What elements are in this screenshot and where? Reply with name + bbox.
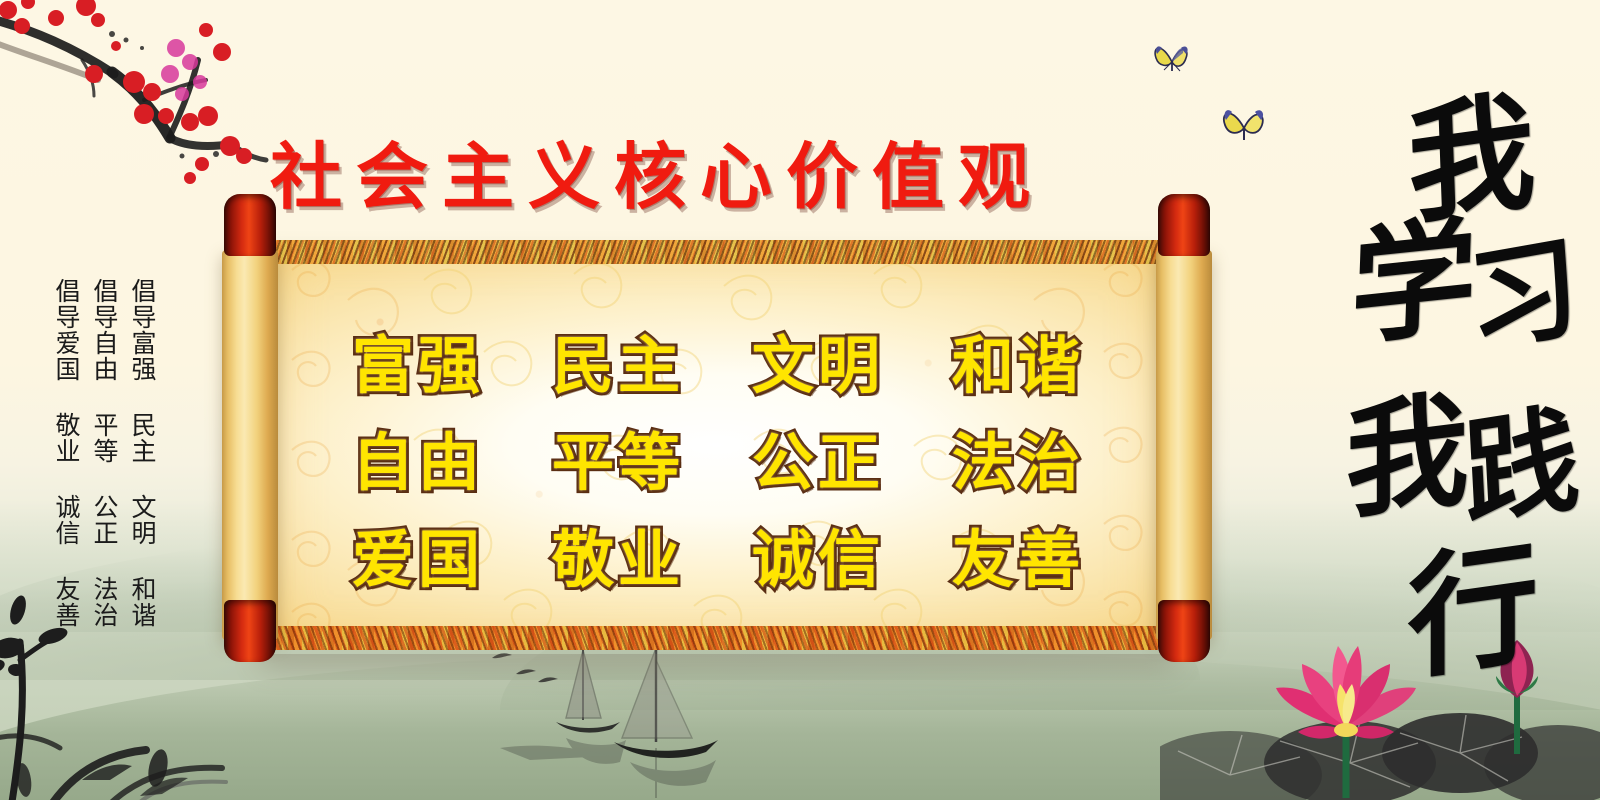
- vertical-slogan-column-2: 倡导自由 平等 公正 法治: [90, 278, 118, 628]
- core-value: 文明: [752, 315, 884, 405]
- core-value: 敬业: [552, 509, 684, 599]
- roller-body: [1156, 250, 1212, 640]
- core-value: 民主: [552, 315, 684, 405]
- core-value: 平等: [552, 412, 684, 502]
- core-value: 和谐: [952, 315, 1084, 405]
- scroll-roller-left: [222, 192, 278, 664]
- calligraphy-glyph: 学: [1348, 174, 1480, 371]
- scroll-roller-right: [1156, 192, 1212, 664]
- calligraphy-block: 我 学 习 我 践 行: [1355, 55, 1590, 675]
- scroll-border-top: [274, 240, 1158, 264]
- plum-blossom-branch-icon: [0, 0, 294, 186]
- core-value: 法治: [952, 412, 1084, 502]
- scroll-border-bottom: [274, 626, 1158, 650]
- butterfly-icon: [1218, 104, 1270, 148]
- core-value: 公正: [752, 412, 884, 502]
- core-values-grid: 富强 民主 文明 和谐 自由 平等 公正 法治 爱国 敬业 诚信 友善: [318, 312, 1118, 602]
- roller-cap-bottom: [224, 600, 276, 662]
- core-value: 诚信: [752, 509, 884, 599]
- roller-cap-top: [1158, 194, 1210, 256]
- roller-cap-bottom: [1158, 600, 1210, 662]
- vertical-slogan-column-3: 倡导爱国 敬业 诚信 友善: [52, 278, 80, 628]
- core-value: 富强: [352, 315, 484, 405]
- butterfly-icon: [1150, 40, 1194, 78]
- vertical-slogan-column-1: 倡导富强 民主 文明 和谐: [128, 278, 156, 628]
- core-value: 友善: [952, 509, 1084, 599]
- scroll-banner: 富强 民主 文明 和谐 自由 平等 公正 法治 爱国 敬业 诚信 友善: [222, 192, 1212, 664]
- core-value: 自由: [352, 412, 484, 502]
- calligraphy-glyph: 习: [1461, 195, 1585, 376]
- core-value: 爱国: [352, 509, 484, 599]
- roller-cap-top: [224, 194, 276, 256]
- vertical-slogan-block: 倡导富强 民主 文明 和谐 倡导自由 平等 公正 法治 倡导爱国 敬业 诚信 友…: [52, 278, 156, 628]
- calligraphy-glyph: 行: [1408, 495, 1539, 706]
- poster-canvas: 社会主义核心价值观 倡导富强 民主 文明 和谐 倡导自由 平等 公正 法治 倡导…: [0, 0, 1600, 800]
- roller-body: [222, 250, 278, 640]
